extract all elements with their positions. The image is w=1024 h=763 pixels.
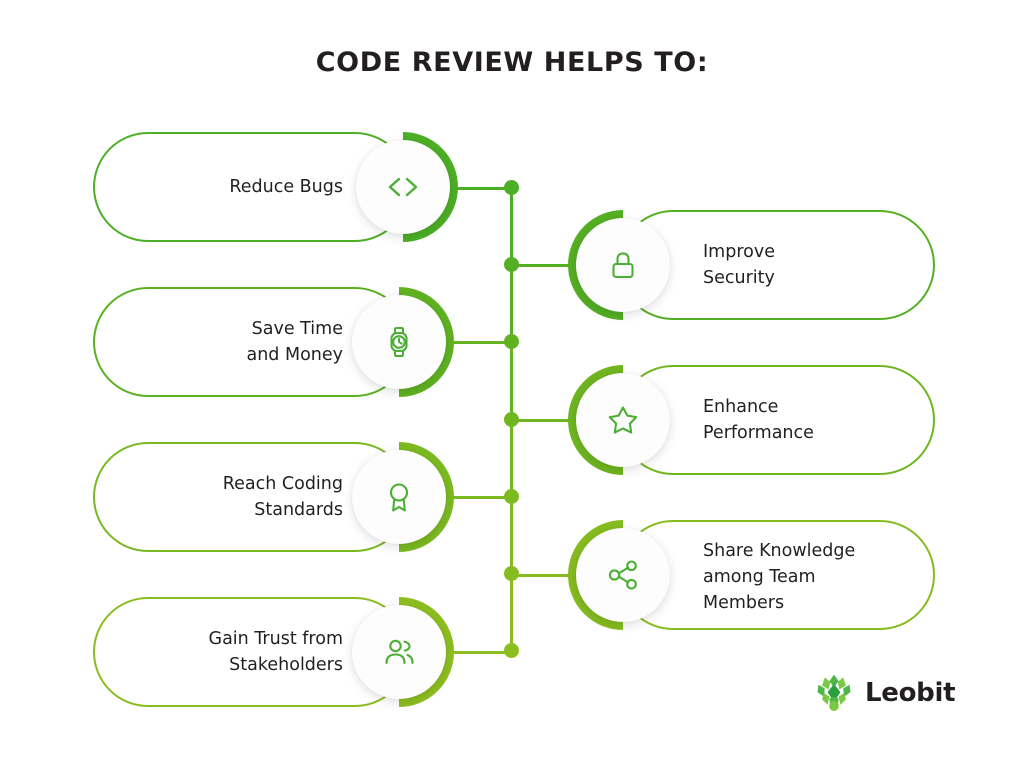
right-item-label: Share Knowledge among Team Members <box>703 538 935 616</box>
leobit-logo-mark <box>812 671 856 715</box>
connector-dot-1 <box>504 180 519 195</box>
leobit-logo[interactable]: Leobit <box>812 671 955 715</box>
spine-segment-1 <box>510 188 513 266</box>
connector-dot-5 <box>504 489 519 504</box>
lock-icon <box>576 218 670 312</box>
connector-dot-2 <box>504 257 519 272</box>
right-item-label: Enhance Performance <box>703 394 933 446</box>
spine-segment-2 <box>510 265 513 343</box>
spine-segment-5 <box>510 497 513 575</box>
spine-segment-4 <box>510 420 513 498</box>
connector-dot-6 <box>504 566 519 581</box>
right-item-label: Improve Security <box>703 239 933 291</box>
connector-dot-4 <box>504 412 519 427</box>
leobit-logo-text: Leobit <box>865 678 955 708</box>
right-item-node[interactable] <box>568 210 678 320</box>
connector-dot-3 <box>504 334 519 349</box>
right-item-node[interactable] <box>568 520 678 630</box>
code-icon <box>356 140 450 234</box>
left-item-node[interactable] <box>344 287 454 397</box>
share-icon <box>576 528 670 622</box>
left-item-node[interactable] <box>344 442 454 552</box>
branch-left-4 <box>452 651 512 654</box>
right-item-node[interactable] <box>568 365 678 475</box>
left-item-label: Save Time and Money <box>113 316 343 368</box>
infographic-canvas: CODE REVIEW HELPS TO: Reduce Bugs <box>0 0 1024 763</box>
left-item-label: Reach Coding Standards <box>113 471 343 523</box>
watch-icon <box>352 295 446 389</box>
left-item-node[interactable] <box>344 597 454 707</box>
users-icon <box>352 605 446 699</box>
left-item-node[interactable] <box>348 132 458 242</box>
star-icon <box>576 373 670 467</box>
left-item-label: Reduce Bugs <box>113 174 343 200</box>
left-item-label: Gain Trust from Stakeholders <box>103 626 343 678</box>
spine-segment-3 <box>510 342 513 421</box>
award-icon <box>352 450 446 544</box>
page-title: CODE REVIEW HELPS TO: <box>0 47 1024 78</box>
spine-segment-6 <box>510 574 513 652</box>
connector-dot-7 <box>504 643 519 658</box>
